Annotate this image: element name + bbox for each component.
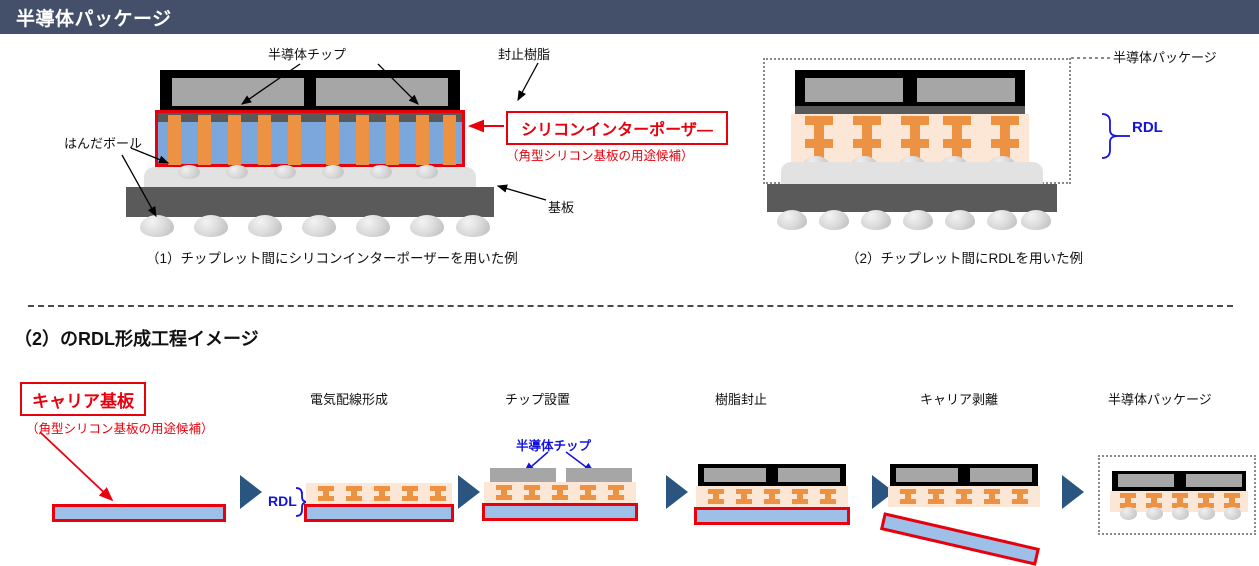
process-step-carrier bbox=[52, 504, 226, 522]
solder-ball bbox=[194, 215, 228, 237]
annotation-semiconductor-chip: 半導体チップ bbox=[516, 435, 591, 454]
label-solder-ball: はんだボール bbox=[64, 136, 142, 152]
caption-diagram-2: （2）チップレット間にRDLを用いた例 bbox=[846, 247, 1083, 267]
semiconductor-chip-left bbox=[490, 468, 556, 482]
silicon-interposer-callout-title: シリコンインターポーザ― bbox=[521, 116, 713, 140]
page-title: 半導体パッケージ bbox=[0, 4, 172, 31]
c4-bump bbox=[274, 165, 296, 179]
carrier-substrate bbox=[482, 503, 638, 521]
solder-ball bbox=[356, 215, 390, 237]
solder-ball bbox=[410, 215, 444, 237]
c4-bump bbox=[370, 165, 392, 179]
solder-ball bbox=[1224, 507, 1241, 520]
tsv-via bbox=[443, 115, 456, 165]
process-arrow-1 bbox=[240, 475, 262, 509]
semiconductor-chip-right bbox=[316, 78, 448, 106]
solder-ball bbox=[945, 210, 975, 230]
rdl-layer bbox=[791, 114, 1029, 162]
process-arrow-5 bbox=[1062, 475, 1084, 509]
tsv-via bbox=[228, 115, 241, 165]
c4-bump bbox=[226, 165, 248, 179]
rdl-package-diagram bbox=[755, 48, 1135, 248]
process-step-rdl-formation bbox=[306, 483, 452, 523]
semiconductor-chip-left bbox=[1118, 474, 1174, 487]
package-substrate bbox=[767, 184, 1057, 212]
process-step-chip-placement bbox=[490, 468, 650, 524]
tsv-via bbox=[168, 115, 181, 165]
underfill-layer bbox=[781, 162, 1043, 184]
step-label-carrier-debond: キャリア剥離 bbox=[920, 392, 998, 408]
page-title-bar: 半導体パッケージ bbox=[0, 0, 1259, 34]
tsv-via bbox=[356, 115, 369, 165]
semiconductor-chip-right bbox=[778, 468, 840, 482]
semiconductor-chip-left bbox=[896, 468, 958, 482]
tsv-via bbox=[198, 115, 211, 165]
process-section-heading: （2）のRDL形成工程イメージ bbox=[14, 325, 259, 351]
semiconductor-chip-right bbox=[970, 468, 1032, 482]
solder-ball bbox=[1120, 507, 1137, 520]
semiconductor-chip-left bbox=[704, 468, 766, 482]
step-label-wiring: 電気配線形成 bbox=[310, 392, 388, 408]
process-step-final-package bbox=[1098, 455, 1256, 535]
silicon-interposer-callout: シリコンインターポーザ― bbox=[506, 111, 728, 145]
solder-ball bbox=[777, 210, 807, 230]
carrier-substrate bbox=[304, 504, 454, 522]
process-arrow-2 bbox=[458, 475, 480, 509]
solder-ball bbox=[1021, 210, 1051, 230]
tsv-via bbox=[326, 115, 339, 165]
caption-diagram-1: （1）チップレット間にシリコンインターポーザーを用いた例 bbox=[146, 247, 518, 267]
tsv-via bbox=[258, 115, 271, 165]
solder-ball bbox=[903, 210, 933, 230]
microbump-pad-strip bbox=[795, 106, 1025, 114]
solder-ball bbox=[302, 215, 336, 237]
silicon-interposer-callout-subtitle: （角型シリコン基板の用途候補） bbox=[506, 145, 694, 164]
carrier-substrate-callout-subtitle: （角型シリコン基板の用途候補） bbox=[26, 418, 214, 437]
process-step-molding bbox=[698, 464, 858, 524]
solder-ball bbox=[1172, 507, 1189, 520]
solder-ball bbox=[861, 210, 891, 230]
c4-bump bbox=[178, 165, 200, 179]
label-rdl: RDL bbox=[1132, 119, 1163, 136]
tsv-via bbox=[386, 115, 399, 165]
semiconductor-chip-right bbox=[917, 78, 1015, 102]
carrier-substrate-callout: キャリア基板 bbox=[20, 382, 146, 416]
label-substrate: 基板 bbox=[548, 200, 574, 216]
solder-ball bbox=[248, 215, 282, 237]
step-label-molding: 樹脂封止 bbox=[715, 392, 767, 408]
carrier-substrate-callout-title: キャリア基板 bbox=[32, 387, 134, 412]
label-semiconductor-chip: 半導体チップ bbox=[268, 47, 346, 63]
solder-ball bbox=[1198, 507, 1215, 520]
c4-bump bbox=[416, 165, 438, 179]
c4-bump bbox=[322, 165, 344, 179]
solder-ball bbox=[987, 210, 1017, 230]
step-label-final-package: 半導体パッケージ bbox=[1108, 392, 1212, 408]
solder-ball bbox=[819, 210, 849, 230]
section-divider bbox=[28, 305, 1233, 307]
process-arrow-3 bbox=[666, 475, 688, 509]
solder-ball bbox=[1146, 507, 1163, 520]
pad-row bbox=[158, 113, 462, 122]
rdl-bracket-label: RDL bbox=[268, 493, 297, 509]
label-mold-resin: 封止樹脂 bbox=[498, 47, 550, 63]
process-step-carrier-debond bbox=[890, 464, 1070, 544]
semiconductor-chip-right bbox=[566, 468, 632, 482]
semiconductor-chip-left bbox=[172, 78, 304, 106]
semiconductor-chip-right bbox=[1186, 474, 1242, 487]
silicon-interposer-block bbox=[155, 110, 465, 167]
carrier-substrate bbox=[694, 507, 850, 525]
tsv-via bbox=[288, 115, 301, 165]
step-label-chip-placement: チップ設置 bbox=[505, 392, 570, 408]
semiconductor-chip-left bbox=[805, 78, 903, 102]
peeled-carrier-substrate bbox=[880, 512, 1040, 566]
solder-ball bbox=[140, 215, 174, 237]
solder-ball bbox=[456, 215, 490, 237]
package-substrate bbox=[126, 187, 494, 217]
label-package: 半導体パッケージ bbox=[1113, 50, 1217, 66]
tsv-via bbox=[416, 115, 429, 165]
